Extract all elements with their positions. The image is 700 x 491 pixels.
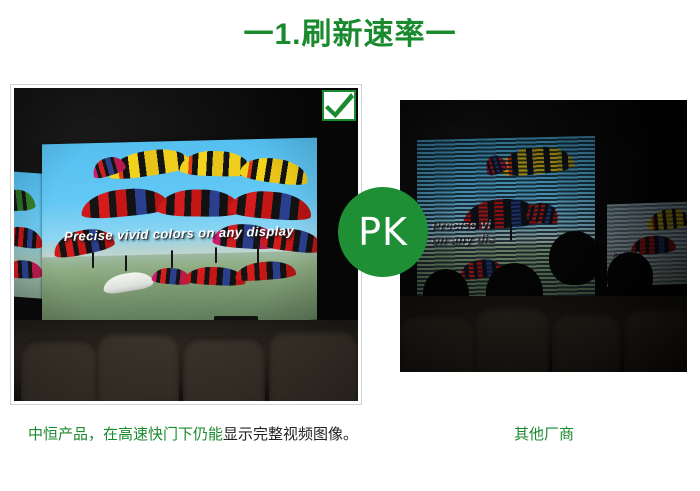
main-led-wall: Precise vivid colors on any display: [42, 138, 317, 326]
right-scene: Precise vi on any dis Precise on any d: [400, 100, 687, 372]
check-badge: [322, 90, 356, 121]
skydiver: [91, 252, 93, 268]
left-caption-highlight: 中恒产品，在高速快门下仍能: [28, 426, 223, 443]
right-photo[interactable]: Precise vi on any dis Precise on any d: [400, 100, 687, 372]
parachute: [227, 188, 312, 222]
skydiver: [510, 226, 512, 241]
parachute: [238, 154, 310, 186]
seat: [624, 307, 687, 372]
audience-seating: [14, 320, 358, 401]
parachute: [14, 259, 44, 277]
skydiver: [171, 250, 173, 268]
parachute: [645, 206, 687, 231]
left-caption: 中恒产品，在高速快门下仍能显示完整视频图像。: [28, 422, 368, 447]
left-photo-frame[interactable]: Precise vivid colors on any display: [10, 84, 362, 405]
seat: [21, 338, 97, 401]
seat: [400, 313, 475, 372]
parachute: [157, 189, 240, 217]
audience-seating: [400, 296, 687, 372]
pk-badge: PK: [338, 187, 428, 277]
skydiver: [215, 247, 217, 263]
seat: [183, 336, 266, 401]
seat: [552, 311, 621, 372]
audience-head: [549, 231, 601, 285]
parachute: [14, 224, 44, 250]
skydiver: [256, 248, 258, 264]
comparison-area: Precise vivid colors on any display: [0, 80, 700, 420]
left-photo: Precise vivid colors on any display: [14, 88, 358, 401]
left-caption-rest: 显示完整视频图像。: [223, 426, 358, 443]
check-icon: [325, 93, 354, 118]
parachute: [630, 234, 675, 255]
seat: [269, 329, 358, 401]
seat: [97, 331, 180, 401]
parachute: [79, 186, 169, 221]
parachute: [498, 144, 574, 178]
skydiver: [124, 255, 126, 271]
parachute: [14, 188, 36, 211]
seat: [475, 305, 550, 372]
page-title: 一1.刷新速率一: [0, 16, 700, 54]
audience-head: [607, 252, 653, 301]
right-caption: 其他厂商: [400, 422, 688, 447]
